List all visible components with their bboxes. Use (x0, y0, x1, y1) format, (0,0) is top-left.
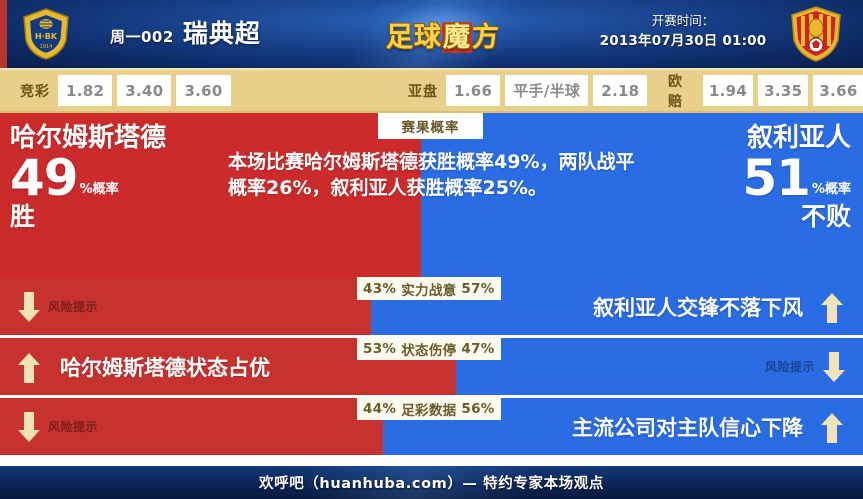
risk-label: 风险提示 (48, 298, 98, 315)
row-score-chip: 53% 状态伤停 47% (357, 337, 501, 360)
match-league-label: 瑞典超 (183, 14, 261, 50)
up-arrow-icon (821, 411, 845, 443)
away-verdict: 不败 (631, 203, 851, 231)
odds-cell[interactable]: 1.66 (446, 75, 500, 106)
odds-cell[interactable]: 2.18 (593, 75, 647, 106)
header-bar: H·BK 1914 周一002 瑞典超 足球魔方 开赛时间： 2013年07月3… (0, 0, 863, 68)
down-arrow-icon (18, 412, 40, 442)
away-probability-block: 叙利亚人 51 %概率 不败 (631, 125, 851, 230)
syrianska-shield-icon (787, 4, 845, 64)
kickoff-label: 开赛时间： (588, 12, 778, 31)
risk-label: 风险提示 (48, 418, 98, 435)
row-category-label: 状态伤停 (401, 339, 456, 359)
svg-text:1914: 1914 (40, 44, 53, 50)
down-arrow-icon (823, 352, 845, 382)
odds-cell[interactable]: 1.94 (703, 75, 753, 106)
probability-chip: 赛果概率 (378, 113, 483, 139)
odds-group-oupei: 欧赔 1.94 3.35 3.66 (660, 68, 863, 113)
risk-indicator-home: 风险提示 (18, 412, 98, 442)
odds-group-title: 亚盘 (400, 81, 446, 101)
comparison-row: 44% 足彩数据 56% 风险提示 主流公司对主队信心下降 (0, 398, 863, 455)
row-category-label: 实力战意 (401, 279, 456, 299)
brand-part-2: 魔 (442, 22, 472, 53)
down-arrow-icon (18, 292, 40, 322)
comparison-rows: 43% 实力战意 57% 风险提示 叙利亚人交锋不落下风 53% 状态伤停 47… (0, 278, 863, 455)
halmstad-shield-icon: H·BK 1914 (18, 6, 74, 62)
home-verdict: 胜 (10, 203, 225, 231)
risk-indicator-away: 风险提示 (765, 352, 845, 382)
match-round-label: 周一002 (110, 26, 174, 47)
trend-indicator-home (18, 351, 42, 383)
row-away-message: 主流公司对主队信心下降 (572, 412, 803, 442)
brand-part-1: 足球 (386, 22, 442, 53)
odds-group-jingcai: 竞彩 1.82 3.40 3.60 (12, 68, 236, 113)
up-arrow-icon (18, 351, 42, 383)
trend-indicator-away (821, 411, 845, 443)
row-right-pct: 47% (461, 341, 494, 357)
home-probability-block: 哈尔姆斯塔德 49 %概率 胜 (10, 125, 225, 230)
match-title: 周一002 瑞典超 (110, 14, 261, 50)
row-score-chip: 43% 实力战意 57% (357, 277, 501, 300)
risk-indicator-home: 风险提示 (18, 292, 98, 322)
away-team-name: 叙利亚人 (631, 125, 851, 153)
odds-cell[interactable]: 3.40 (117, 75, 171, 106)
up-arrow-icon (821, 291, 845, 323)
trend-indicator-away (821, 291, 845, 323)
odds-cell[interactable]: 3.60 (176, 75, 230, 106)
footer-credit: 欢呼吧（huanhuba.com）— 特约专家本场观点 (259, 472, 604, 493)
row-right-pct: 57% (461, 281, 494, 297)
row-category-label: 足彩数据 (401, 399, 456, 419)
kickoff-time-block: 开赛时间： 2013年07月30日 01:00 (588, 12, 778, 51)
header-left-accent (0, 0, 7, 68)
risk-label: 风险提示 (765, 358, 815, 375)
probability-description: 本场比赛哈尔姆斯塔德获胜概率49%，两队战平概率26%，叙利亚人获胜概率25%。 (228, 149, 636, 201)
odds-group-title: 欧赔 (660, 71, 703, 111)
row-home-message: 哈尔姆斯塔德状态占优 (60, 352, 270, 382)
odds-cell[interactable]: 1.82 (58, 75, 112, 106)
home-probability-value: 49 (10, 153, 78, 203)
probability-panel: 哈尔姆斯塔德 49 %概率 胜 赛果概率 本场比赛哈尔姆斯塔德获胜概率49%，两… (0, 113, 863, 278)
row-right-pct: 56% (461, 401, 494, 417)
row-left-pct: 44% (363, 401, 396, 417)
footer-bar: 欢呼吧（huanhuba.com）— 特约专家本场观点 (0, 466, 863, 499)
away-probability-value: 51 (742, 153, 810, 203)
away-probability-unit: %概率 (812, 183, 851, 196)
kickoff-value: 2013年07月30日 01:00 (588, 31, 778, 51)
brand-logo: 足球魔方 (358, 5, 528, 63)
odds-group-yapan: 亚盘 1.66 平手/半球 2.18 (400, 68, 652, 113)
svg-text:H·BK: H·BK (35, 32, 58, 41)
comparison-row: 53% 状态伤停 47% 哈尔姆斯塔德状态占优 风险提示 (0, 338, 863, 395)
home-probability-unit: %概率 (80, 183, 119, 196)
odds-cell[interactable]: 3.66 (813, 75, 863, 106)
odds-bar: 竞彩 1.82 3.40 3.60 亚盘 1.66 平手/半球 2.18 欧赔 … (0, 68, 863, 113)
row-left-pct: 53% (363, 341, 396, 357)
row-left-pct: 43% (363, 281, 396, 297)
comparison-row: 43% 实力战意 57% 风险提示 叙利亚人交锋不落下风 (0, 278, 863, 335)
brand-part-3: 方 (472, 22, 500, 53)
match-preview-infographic: H·BK 1914 周一002 瑞典超 足球魔方 开赛时间： 2013年07月3… (0, 0, 863, 499)
row-away-message: 叙利亚人交锋不落下风 (593, 292, 803, 322)
row-score-chip: 44% 足彩数据 56% (357, 397, 501, 420)
odds-cell[interactable]: 3.35 (758, 75, 808, 106)
odds-cell-handicap[interactable]: 平手/半球 (505, 75, 588, 106)
odds-group-title: 竞彩 (12, 81, 58, 101)
